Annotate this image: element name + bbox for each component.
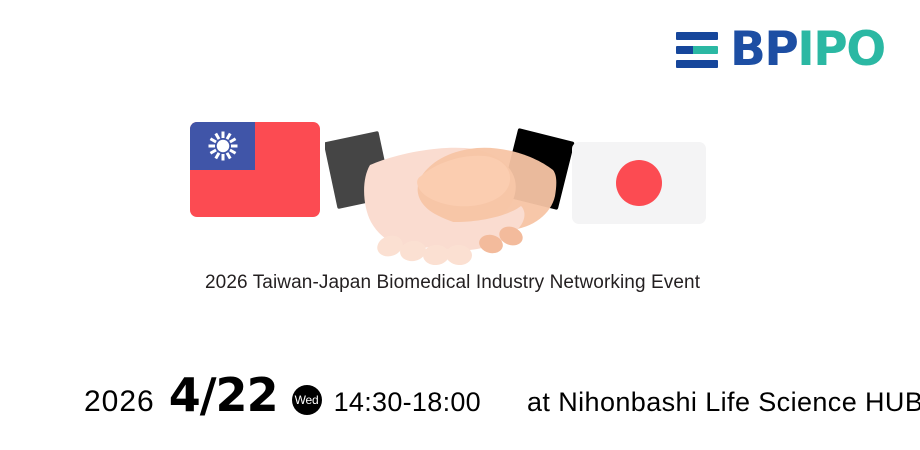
event-date: 4/22: [169, 368, 278, 422]
event-time: 14:30-18:00: [334, 387, 481, 418]
brand-wordmark: BP IPO: [730, 26, 885, 73]
handshake-illustration-icon: [325, 118, 590, 273]
japan-flag-icon: [572, 142, 706, 224]
event-weekday-badge: Wed: [292, 385, 322, 415]
logo-bar-middle-teal-segment: [693, 46, 718, 54]
logo-bar-top: [676, 32, 718, 40]
japan-flag-disc: [616, 160, 662, 206]
event-details-strip: 2026 4/22 Wed 14:30-18:00 at Nihonbashi …: [84, 368, 920, 416]
logo-bar-bottom: [676, 60, 718, 68]
brand-wordmark-ipo: IPO: [797, 26, 884, 73]
event-year: 2026: [84, 385, 155, 419]
brand-logo: BP IPO: [676, 26, 885, 73]
taiwan-flag-sun-emblem: [208, 131, 238, 161]
hero-graphic: [180, 110, 720, 275]
bpipo-logo-mark-icon: [676, 29, 718, 71]
logo-bar-middle-navy-segment: [676, 46, 693, 54]
event-title: 2026 Taiwan-Japan Biomedical Industry Ne…: [205, 272, 700, 294]
event-venue: at Nihonbashi Life Science HUB: [527, 387, 920, 418]
brand-wordmark-bp: BP: [730, 26, 797, 73]
taiwan-flag-icon: [190, 122, 320, 217]
logo-bar-middle: [676, 46, 718, 54]
